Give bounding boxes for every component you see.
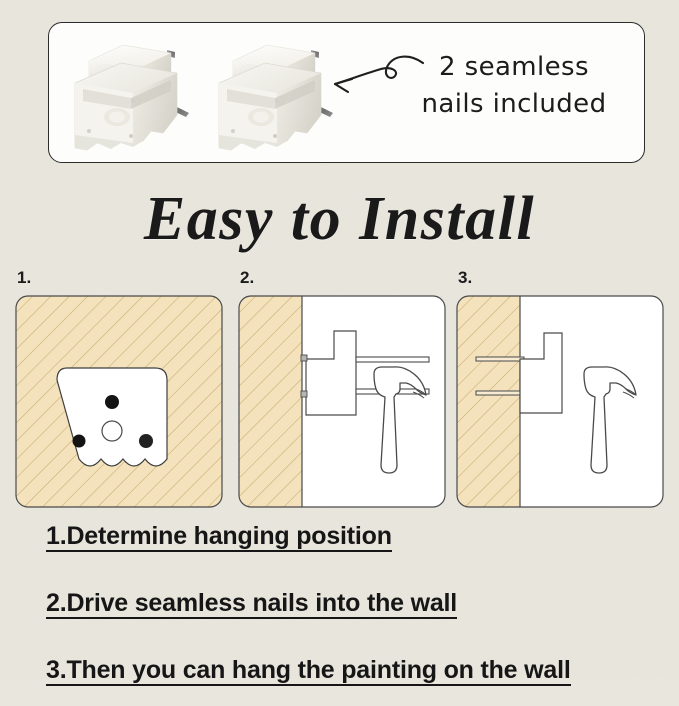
caption-line-1: 2 seamless bbox=[389, 49, 639, 86]
instruction-3: 3.Then you can hang the painting on the … bbox=[46, 658, 571, 686]
instruction-1: 1.Determine hanging position bbox=[46, 524, 392, 552]
instruction-row: 2.Drive seamless nails into the wall bbox=[46, 591, 646, 639]
nail-upper bbox=[356, 357, 429, 362]
step-3: 3. bbox=[456, 270, 664, 508]
step-1-illustration bbox=[15, 295, 223, 508]
instruction-2: 2.Drive seamless nails into the wall bbox=[46, 591, 457, 619]
step-3-number: 3. bbox=[458, 268, 472, 288]
step-1: 1. bbox=[15, 270, 223, 508]
step-panels: 1. bbox=[0, 270, 679, 515]
wall-section bbox=[238, 295, 302, 508]
product-caption: 2 seamless nails included bbox=[389, 49, 639, 123]
wall-section bbox=[456, 295, 520, 508]
product-callout-box: 2 seamless nails included bbox=[48, 22, 645, 163]
nail-dot-right bbox=[139, 434, 153, 448]
nail-dot-top bbox=[105, 395, 119, 409]
caption-line-2: nails included bbox=[389, 86, 639, 123]
page-title: Easy to Install bbox=[0, 184, 679, 255]
seamless-nail-hook-1 bbox=[75, 45, 189, 150]
step-2: 2. bbox=[238, 270, 446, 508]
instruction-row: 3.Then you can hang the painting on the … bbox=[46, 658, 646, 706]
step-2-number: 2. bbox=[240, 268, 254, 288]
step-1-number: 1. bbox=[17, 268, 31, 288]
step-3-illustration bbox=[456, 295, 664, 508]
instruction-row: 1.Determine hanging position bbox=[46, 524, 646, 572]
step-2-illustration bbox=[238, 295, 446, 508]
nail-dot-left bbox=[73, 435, 86, 448]
